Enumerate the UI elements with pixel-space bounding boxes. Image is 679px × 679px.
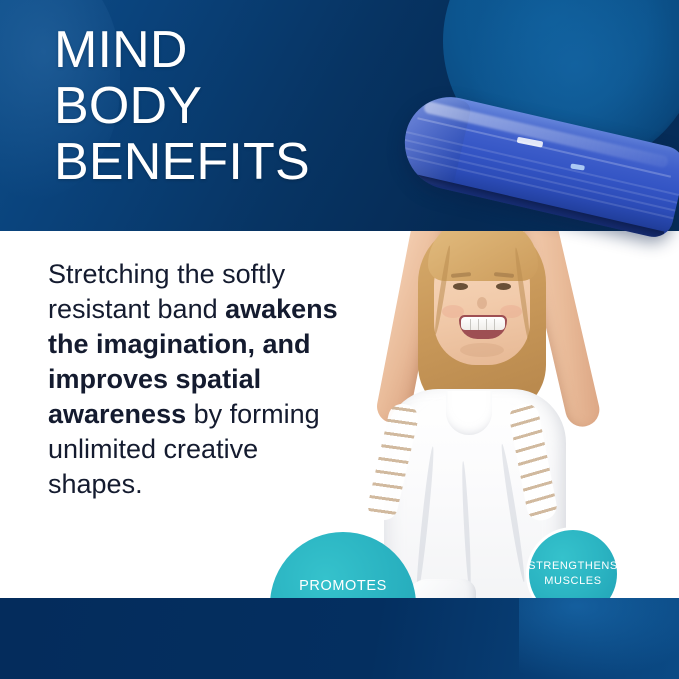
girl-eye-right — [496, 283, 511, 290]
badge-balance-line-1: PROMOTES — [285, 577, 401, 596]
footer-accent-glow — [519, 598, 679, 679]
page-title: MIND BODY BENEFITS — [54, 22, 454, 190]
girl-eye-left — [453, 283, 468, 290]
girl-nose — [477, 297, 487, 309]
product-infographic: MIND BODY BENEFITS — [0, 0, 679, 679]
girl-shirt-neckline — [446, 391, 492, 435]
girl-shirt-knot — [406, 579, 476, 598]
girl-teeth — [461, 317, 505, 330]
girl-chin-shadow — [460, 343, 504, 357]
badge-muscles-line-2: MUSCLES — [528, 574, 618, 589]
product-photo — [360, 231, 679, 598]
headline-line-1: MIND — [54, 22, 454, 78]
body-copy: Stretching the softly resistant band awa… — [48, 257, 348, 502]
badge-muscles-line-1: STRENGTHENS — [528, 559, 618, 574]
headline-line-2: BODY — [54, 78, 454, 134]
